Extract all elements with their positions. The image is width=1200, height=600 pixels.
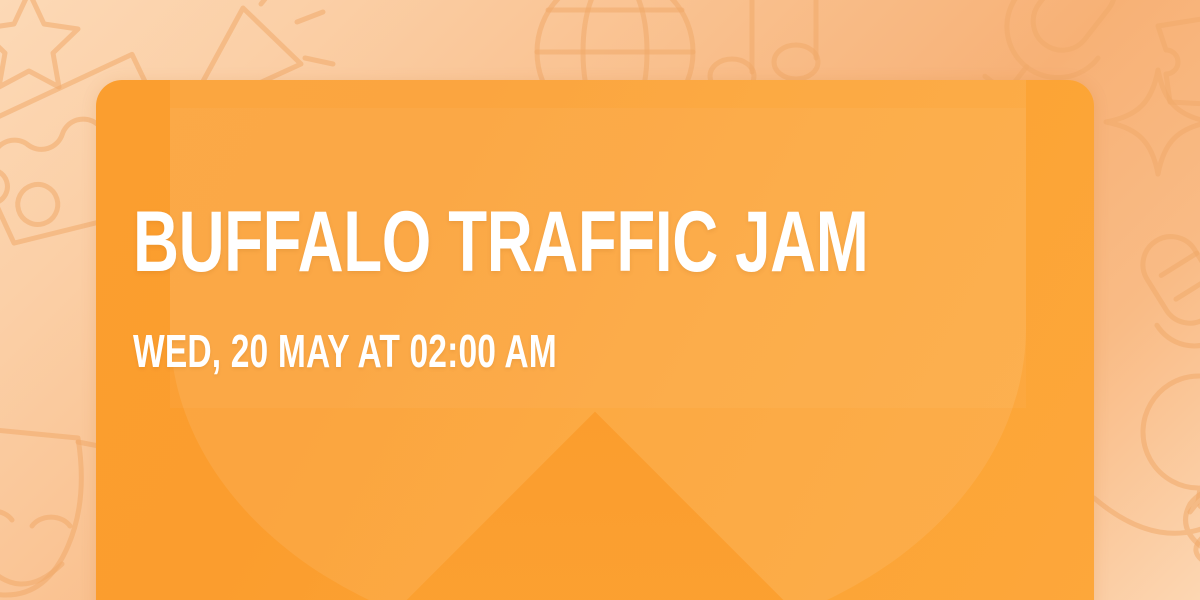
sparkle-icon <box>1098 62 1200 182</box>
event-text-block: Buffalo Traffic Jam Wed, 20 May at 02:00… <box>133 200 1054 374</box>
streamer-icon <box>1090 478 1200 600</box>
event-card[interactable]: Buffalo Traffic Jam Wed, 20 May at 02:00… <box>96 80 1094 600</box>
event-datetime: Wed, 20 May at 02:00 AM <box>133 328 805 374</box>
balloon-icon <box>1128 358 1200 548</box>
event-title: Buffalo Traffic Jam <box>133 200 815 284</box>
microphone-icon <box>1112 218 1200 388</box>
ticket-icon <box>1150 0 1200 120</box>
event-poster: Buffalo Traffic Jam Wed, 20 May at 02:00… <box>0 0 1200 600</box>
star-icon <box>0 0 84 92</box>
